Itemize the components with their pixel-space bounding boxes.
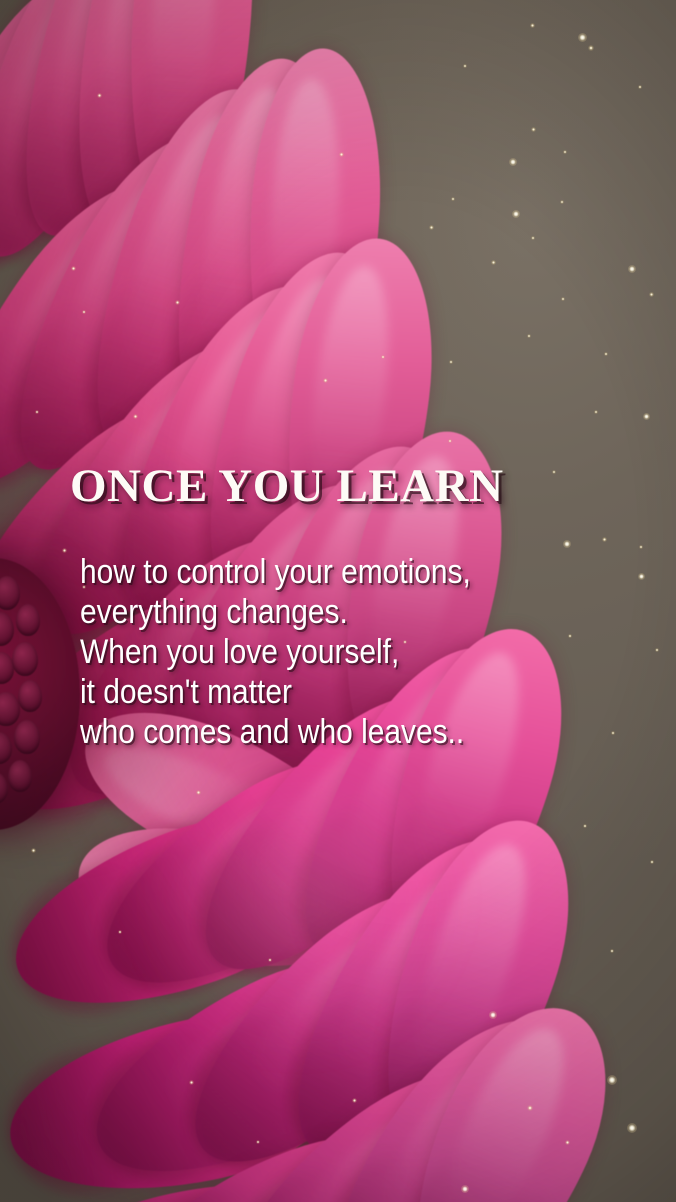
sparkle-icon xyxy=(628,265,636,273)
sparkle-icon xyxy=(381,355,385,359)
sparkle-icon xyxy=(527,1105,533,1111)
sparkle-icon xyxy=(449,360,453,364)
sparkle-icon xyxy=(639,545,643,549)
sparkle-icon xyxy=(448,439,452,443)
sparkle-icon xyxy=(62,548,67,553)
sparkle-icon xyxy=(256,1140,260,1144)
sparkle-icon xyxy=(568,634,572,638)
sparkle-overlay xyxy=(0,0,676,1202)
sparkle-icon xyxy=(578,33,587,42)
sparkle-icon xyxy=(607,1075,617,1085)
sparkle-icon xyxy=(594,410,598,414)
sparkle-icon xyxy=(643,413,650,420)
sparkle-icon xyxy=(133,414,138,419)
sparkle-icon xyxy=(527,334,531,338)
sparkle-icon xyxy=(463,64,467,68)
quote-graphic-canvas: ONCE YOU LEARN how to control your emoti… xyxy=(0,0,676,1202)
sparkle-icon xyxy=(323,378,328,383)
sparkle-icon xyxy=(31,848,36,853)
sparkle-icon xyxy=(531,236,535,240)
sparkle-icon xyxy=(649,292,654,297)
sparkle-icon xyxy=(403,640,407,644)
sparkle-icon xyxy=(627,1123,637,1133)
sparkle-icon xyxy=(565,1140,570,1145)
sparkle-icon xyxy=(189,1080,194,1085)
sparkle-icon xyxy=(531,127,536,132)
sparkle-icon xyxy=(604,352,608,356)
sparkle-icon xyxy=(563,150,567,154)
sparkle-icon xyxy=(82,585,86,589)
sparkle-icon xyxy=(655,648,659,652)
sparkle-icon xyxy=(512,210,520,218)
sparkle-icon xyxy=(268,958,272,962)
sparkle-icon xyxy=(602,537,607,542)
sparkle-icon xyxy=(339,152,344,157)
sparkle-icon xyxy=(638,573,645,580)
sparkle-icon xyxy=(196,790,201,795)
sparkle-icon xyxy=(611,731,615,735)
sparkle-icon xyxy=(489,1011,497,1019)
sparkle-icon xyxy=(638,85,642,89)
sparkle-icon xyxy=(82,310,86,314)
sparkle-icon xyxy=(563,540,571,548)
sparkle-icon xyxy=(530,23,535,28)
sparkle-icon xyxy=(35,410,39,414)
sparkle-icon xyxy=(429,225,434,230)
sparkle-icon xyxy=(583,824,587,828)
sparkle-icon xyxy=(491,260,496,265)
sparkle-icon xyxy=(509,158,517,166)
sparkle-icon xyxy=(560,200,564,204)
sparkle-icon xyxy=(561,297,565,301)
sparkle-icon xyxy=(610,949,614,953)
sparkle-icon xyxy=(451,197,455,201)
sparkle-icon xyxy=(650,860,654,864)
sparkle-icon xyxy=(97,93,102,98)
sparkle-icon xyxy=(71,266,76,271)
sparkle-icon xyxy=(118,930,122,934)
sparkle-icon xyxy=(588,45,594,51)
sparkle-icon xyxy=(461,1185,469,1193)
sparkle-icon xyxy=(175,300,180,305)
sparkle-icon xyxy=(352,1098,357,1103)
sparkle-icon xyxy=(552,470,556,474)
